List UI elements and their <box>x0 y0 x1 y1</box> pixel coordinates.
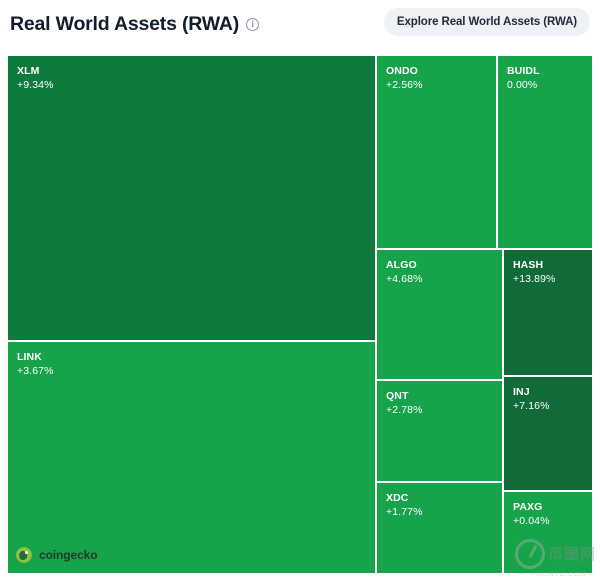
treemap-chart: XLM+9.34%LINK+3.67%ONDO+2.56%BUIDL0.00%A… <box>0 48 600 581</box>
tile-change: +4.68% <box>386 272 423 286</box>
treemap-tile-ondo[interactable]: ONDO+2.56% <box>377 56 496 248</box>
treemap-tile-buidl[interactable]: BUIDL0.00% <box>498 56 592 248</box>
card-header: Real World Assets (RWA) i Explore Real W… <box>0 0 600 48</box>
tile-symbol: ALGO <box>386 258 417 272</box>
tile-symbol: XLM <box>17 64 39 78</box>
title-group: Real World Assets (RWA) i <box>10 13 259 36</box>
tile-change: +9.34% <box>17 78 54 92</box>
treemap-tile-hash[interactable]: HASH+13.89% <box>504 250 592 375</box>
tile-symbol: ONDO <box>386 64 418 78</box>
treemap-tile-link[interactable]: LINK+3.67% <box>8 342 375 573</box>
tile-symbol: XDC <box>386 491 408 505</box>
tile-change: +0.04% <box>513 514 550 528</box>
treemap-tile-xdc[interactable]: XDC+1.77% <box>377 483 502 573</box>
tile-change: +1.77% <box>386 505 423 519</box>
tile-change: 0.00% <box>507 78 537 92</box>
rwa-treemap-card: Real World Assets (RWA) i Explore Real W… <box>0 0 600 581</box>
page-title: Real World Assets (RWA) <box>10 13 239 36</box>
tile-symbol: PAXG <box>513 500 542 514</box>
tile-change: +2.56% <box>386 78 423 92</box>
tile-change: +7.16% <box>513 399 550 413</box>
info-circle-icon[interactable]: i <box>246 18 259 31</box>
treemap-tile-paxg[interactable]: PAXG+0.04% <box>504 492 592 573</box>
tile-symbol: BUIDL <box>507 64 540 78</box>
tile-change: +13.89% <box>513 272 555 286</box>
tile-symbol: QNT <box>386 389 408 403</box>
tile-change: +2.78% <box>386 403 423 417</box>
tile-symbol: LINK <box>17 350 42 364</box>
treemap-tile-qnt[interactable]: QNT+2.78% <box>377 381 502 481</box>
explore-rwa-button[interactable]: Explore Real World Assets (RWA) <box>384 8 590 36</box>
treemap-tile-algo[interactable]: ALGO+4.68% <box>377 250 502 379</box>
treemap-tile-inj[interactable]: INJ+7.16% <box>504 377 592 490</box>
treemap-tile-xlm[interactable]: XLM+9.34% <box>8 56 375 340</box>
tile-symbol: INJ <box>513 385 530 399</box>
tile-symbol: HASH <box>513 258 543 272</box>
tile-change: +3.67% <box>17 364 54 378</box>
